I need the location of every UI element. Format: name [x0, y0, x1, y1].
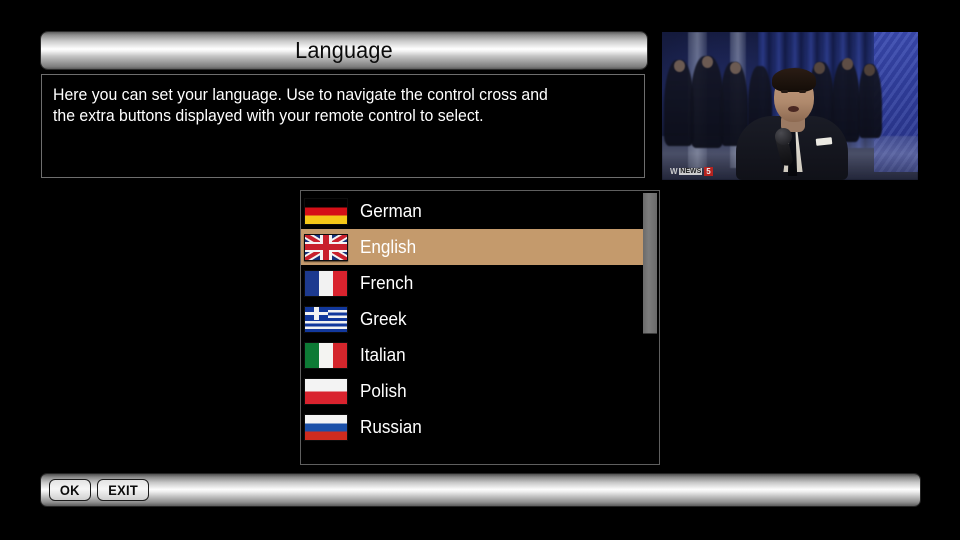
- ok-button[interactable]: OK: [49, 479, 91, 501]
- video-crowd-head: [814, 62, 825, 74]
- language-list-item-label: English: [360, 237, 416, 258]
- page-title-bar: Language: [41, 32, 647, 69]
- language-list-item-label: Greek: [360, 309, 407, 330]
- language-list-item-label: Russian: [360, 417, 422, 438]
- flag-france-icon: [304, 270, 348, 297]
- language-list-item[interactable]: German: [301, 193, 643, 229]
- language-list-item[interactable]: Italian: [301, 337, 643, 373]
- language-list-item-label: Polish: [360, 381, 407, 402]
- reporter-eye: [781, 90, 788, 93]
- bottom-toolbar: OK EXIT: [41, 474, 920, 506]
- channel-logo-part1: W: [670, 167, 677, 176]
- video-crowd-head: [730, 62, 741, 74]
- tv-settings-screen: Language Here you can set your language.…: [0, 0, 960, 540]
- language-list-item[interactable]: French: [301, 265, 643, 301]
- language-list-items: GermanEnglishFrenchGreekItalianPolishRus…: [301, 193, 643, 445]
- help-text: Here you can set your language. Use to n…: [53, 85, 610, 127]
- microphone-head-icon: [775, 128, 792, 145]
- language-list-item-label: Italian: [360, 345, 406, 366]
- flag-poland-icon: [304, 378, 348, 405]
- channel-logo: W NEWS 5: [670, 167, 713, 176]
- flag-italy-icon: [304, 342, 348, 369]
- flag-russia-icon: [304, 414, 348, 441]
- language-list-item[interactable]: Polish: [301, 373, 643, 409]
- flag-greece-icon: [304, 306, 348, 333]
- reporter-hair: [772, 68, 816, 92]
- exit-button[interactable]: EXIT: [97, 479, 149, 501]
- language-list-item-label: German: [360, 201, 422, 222]
- language-list-item[interactable]: Russian: [301, 409, 643, 445]
- video-preview[interactable]: W NEWS 5: [662, 32, 918, 180]
- language-list[interactable]: GermanEnglishFrenchGreekItalianPolishRus…: [300, 190, 660, 465]
- language-list-item[interactable]: Greek: [301, 301, 643, 337]
- language-list-item[interactable]: English: [301, 229, 643, 265]
- channel-logo-part3: 5: [704, 167, 712, 176]
- scrollbar-track[interactable]: [643, 193, 657, 462]
- flag-united-kingdom-icon: [304, 234, 348, 261]
- reporter-eye: [799, 90, 806, 93]
- help-text-panel: Here you can set your language. Use to n…: [41, 74, 645, 178]
- video-crowd-head: [702, 56, 713, 68]
- video-crowd-head: [864, 64, 875, 76]
- flag-germany-icon: [304, 198, 348, 225]
- channel-logo-part2: NEWS: [679, 168, 702, 175]
- page-title: Language: [295, 37, 393, 64]
- ok-button-label: OK: [60, 482, 80, 498]
- video-crowd-head: [842, 58, 853, 70]
- exit-button-label: EXIT: [108, 482, 138, 498]
- language-list-item-label: French: [360, 273, 413, 294]
- reporter-mouth: [788, 106, 799, 112]
- video-crowd-figure: [690, 56, 724, 148]
- scrollbar-thumb[interactable]: [643, 193, 657, 334]
- video-crowd-head: [674, 60, 685, 72]
